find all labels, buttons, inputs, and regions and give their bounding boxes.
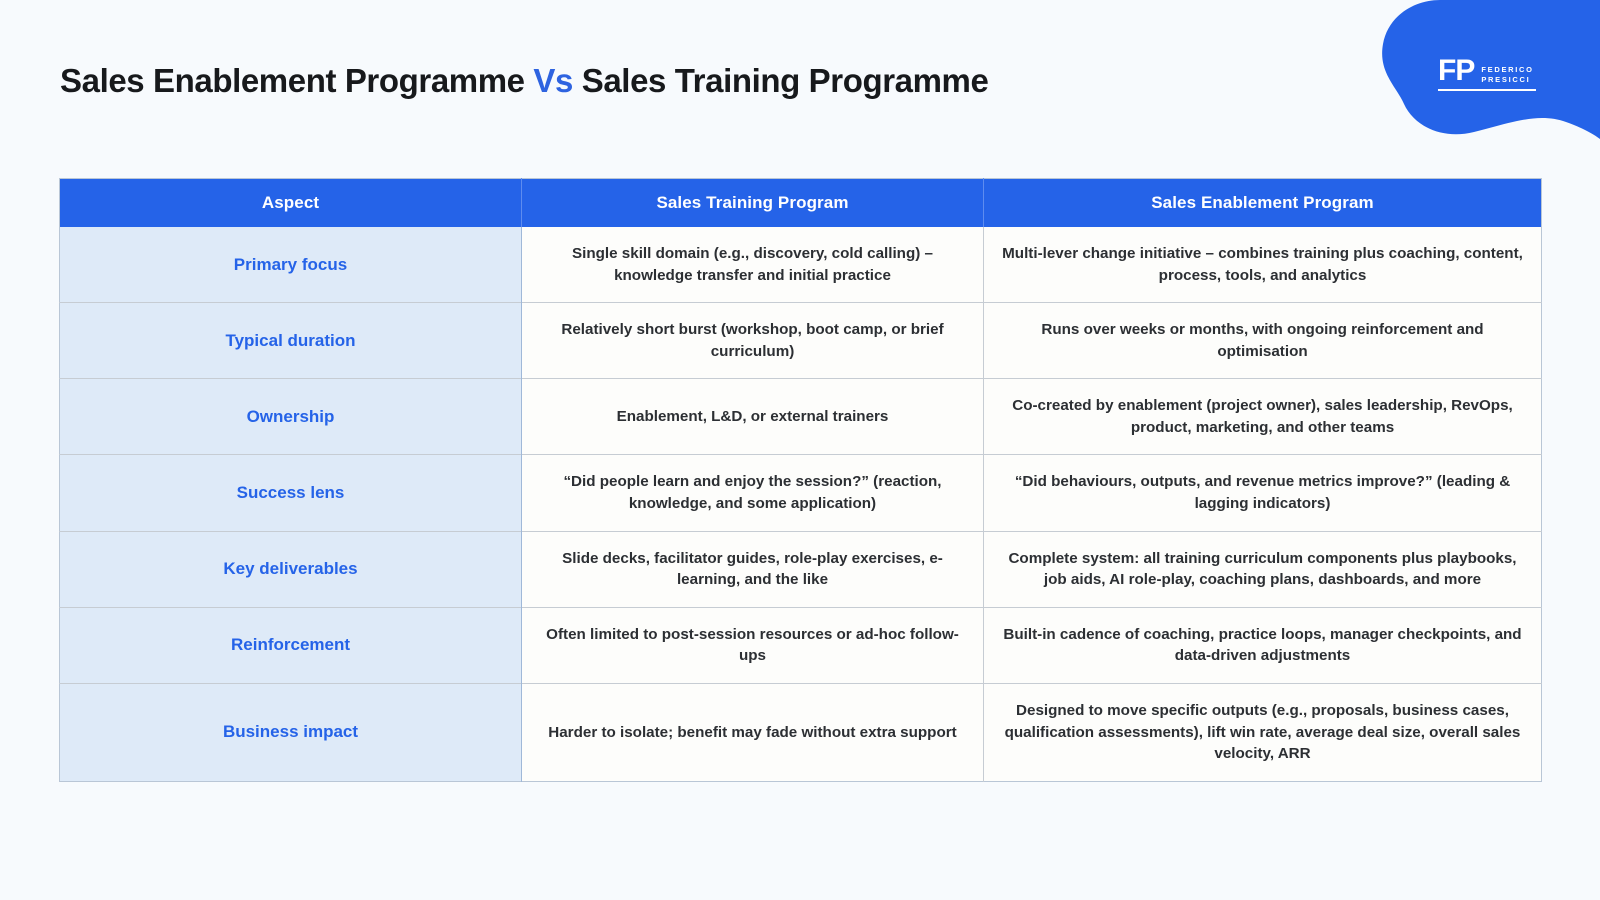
cell-enablement: Designed to move specific outputs (e.g.,…: [984, 683, 1542, 781]
table-row: Key deliverables Slide decks, facilitato…: [60, 531, 1542, 607]
brand-underline: [1438, 89, 1536, 91]
cell-enablement: Multi-lever change initiative – combines…: [984, 227, 1542, 303]
cell-training: Often limited to post-session resources …: [522, 607, 984, 683]
brand-logo-row: FP FEDERICO PRESICCI: [1438, 56, 1534, 86]
brand-logo: FP FEDERICO PRESICCI: [1438, 56, 1578, 91]
cell-enablement: Complete system: all training curriculum…: [984, 531, 1542, 607]
cell-training: Enablement, L&D, or external trainers: [522, 379, 984, 455]
table-header: Aspect Sales Training Program Sales Enab…: [60, 179, 1542, 228]
cell-enablement: Runs over weeks or months, with ongoing …: [984, 303, 1542, 379]
table-row: Business impact Harder to isolate; benef…: [60, 683, 1542, 781]
cell-training: Harder to isolate; benefit may fade with…: [522, 683, 984, 781]
cell-aspect: Typical duration: [60, 303, 522, 379]
table-row: Success lens “Did people learn and enjoy…: [60, 455, 1542, 531]
brand-name-line1: FEDERICO: [1481, 65, 1533, 74]
cell-aspect: Primary focus: [60, 227, 522, 303]
cell-training: Single skill domain (e.g., discovery, co…: [522, 227, 984, 303]
table-row: Reinforcement Often limited to post-sess…: [60, 607, 1542, 683]
table-body: Primary focus Single skill domain (e.g.,…: [60, 227, 1542, 781]
cell-training: Relatively short burst (workshop, boot c…: [522, 303, 984, 379]
cell-enablement: Built-in cadence of coaching, practice l…: [984, 607, 1542, 683]
cell-aspect: Ownership: [60, 379, 522, 455]
column-header-aspect: Aspect: [60, 179, 522, 228]
table-header-row: Aspect Sales Training Program Sales Enab…: [60, 179, 1542, 228]
column-header-training: Sales Training Program: [522, 179, 984, 228]
cell-aspect: Success lens: [60, 455, 522, 531]
brand-name: FEDERICO PRESICCI: [1481, 65, 1533, 86]
cell-enablement: “Did behaviours, outputs, and revenue me…: [984, 455, 1542, 531]
cell-aspect: Business impact: [60, 683, 522, 781]
brand-blob-shape: [1370, 0, 1600, 150]
brand-monogram: FP: [1438, 56, 1474, 86]
page-title: Sales Enablement Programme Vs Sales Trai…: [60, 62, 988, 100]
comparison-table: Aspect Sales Training Program Sales Enab…: [59, 178, 1542, 782]
table-row: Primary focus Single skill domain (e.g.,…: [60, 227, 1542, 303]
brand-blob: FP FEDERICO PRESICCI: [1370, 0, 1600, 150]
cell-aspect: Key deliverables: [60, 531, 522, 607]
cell-aspect: Reinforcement: [60, 607, 522, 683]
cell-training: Slide decks, facilitator guides, role-pl…: [522, 531, 984, 607]
page-title-part1: Sales Enablement Programme: [60, 62, 533, 99]
page-title-accent: Vs: [533, 62, 573, 99]
cell-training: “Did people learn and enjoy the session?…: [522, 455, 984, 531]
column-header-enablement: Sales Enablement Program: [984, 179, 1542, 228]
brand-name-line2: PRESICCI: [1481, 75, 1533, 84]
cell-enablement: Co-created by enablement (project owner)…: [984, 379, 1542, 455]
page-title-part2: Sales Training Programme: [573, 62, 989, 99]
table-row: Ownership Enablement, L&D, or external t…: [60, 379, 1542, 455]
table-row: Typical duration Relatively short burst …: [60, 303, 1542, 379]
